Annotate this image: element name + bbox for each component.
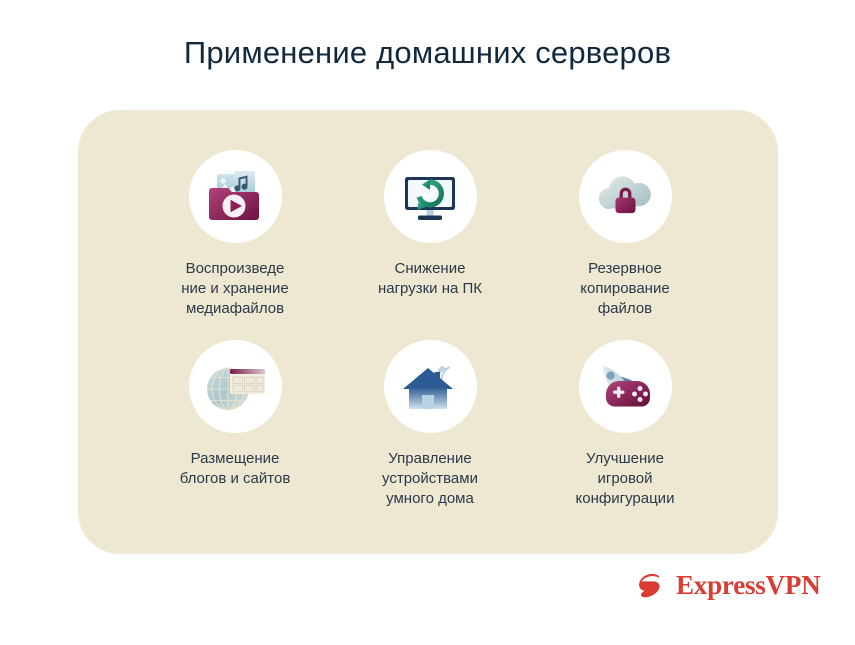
grid-item-label: Резервное копирование файлов bbox=[527, 259, 723, 319]
grid-item-label: Улучшение игровой конфигурации bbox=[527, 449, 723, 509]
monitor-sync-check-icon bbox=[399, 166, 461, 228]
rocket-gamepad-icon bbox=[592, 357, 658, 417]
grid-item-smart-home: Управление устройствами умного дома bbox=[332, 340, 528, 509]
cloud-lock-icon bbox=[592, 166, 658, 228]
icon-circle bbox=[579, 340, 672, 433]
grid-item-web-hosting: Размещение блогов и сайтов bbox=[137, 340, 333, 489]
grid-item-gaming: Улучшение игровой конфигурации bbox=[527, 340, 723, 509]
icon-circle bbox=[189, 340, 282, 433]
icon-circle bbox=[384, 340, 477, 433]
icon-circle bbox=[384, 150, 477, 243]
smart-home-wifi-icon bbox=[398, 357, 462, 417]
brand-name: ExpressVPN bbox=[676, 572, 821, 599]
icon-grid: Воспроизведе ние и хранение медиафайлов bbox=[78, 110, 778, 554]
content-panel: Воспроизведе ние и хранение медиафайлов bbox=[78, 110, 778, 554]
icon-circle bbox=[579, 150, 672, 243]
grid-item-label: Управление устройствами умного дома bbox=[332, 449, 528, 509]
page-title: Применение домашних серверов bbox=[0, 33, 855, 73]
grid-item-backup: Резервное копирование файлов bbox=[527, 150, 723, 319]
icon-circle bbox=[189, 150, 282, 243]
grid-item-media-playback: Воспроизведе ние и хранение медиафайлов bbox=[137, 150, 333, 319]
grid-item-pc-load: Снижение нагрузки на ПК bbox=[332, 150, 528, 299]
brand-logo: ExpressVPN bbox=[633, 568, 821, 602]
grid-item-label: Воспроизведе ние и хранение медиафайлов bbox=[137, 259, 333, 319]
expressvpn-logo-icon bbox=[633, 568, 667, 602]
infographic-page: Применение домашних серверов bbox=[0, 0, 855, 645]
globe-browser-icon bbox=[203, 357, 267, 417]
grid-item-label: Снижение нагрузки на ПК bbox=[332, 259, 528, 299]
media-folder-icon bbox=[204, 166, 266, 228]
grid-item-label: Размещение блогов и сайтов bbox=[137, 449, 333, 489]
